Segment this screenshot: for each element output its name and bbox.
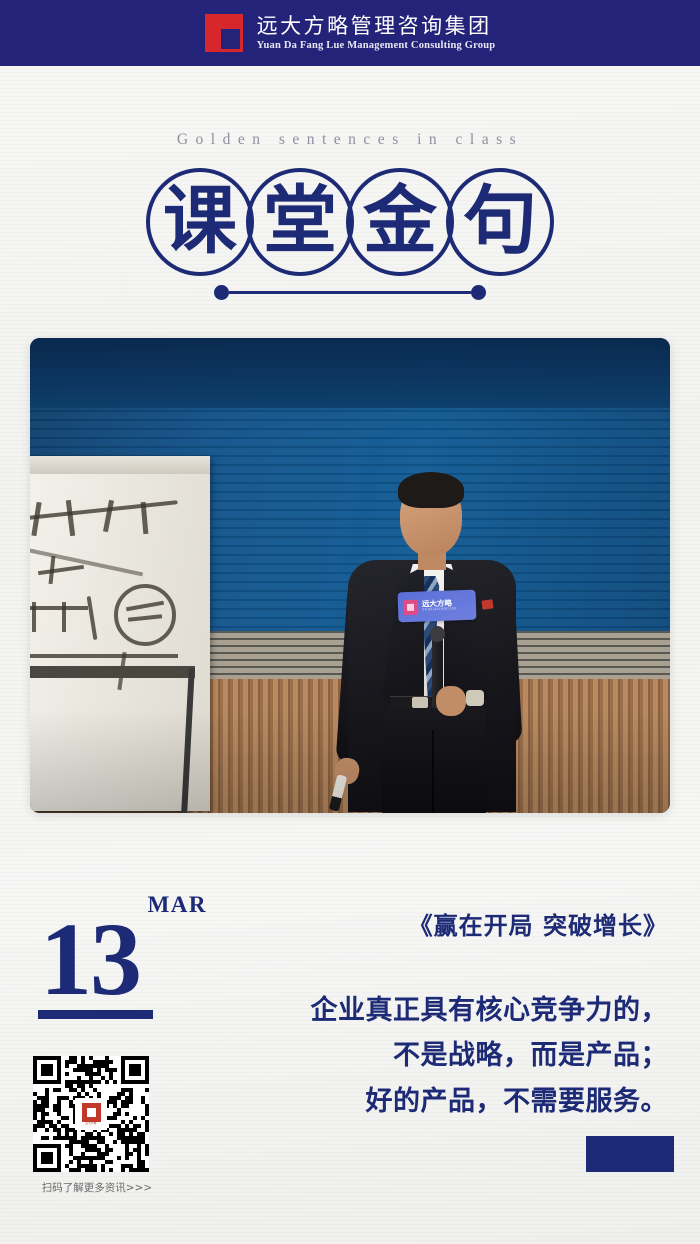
photo-speaker-wristwatch: [466, 690, 484, 706]
qr-code[interactable]: 远大方略: [33, 1056, 149, 1172]
qr-block: 远大方略 扫码了解更多资讯>>>: [33, 1056, 149, 1195]
qr-center-logo-icon: 远大方略: [75, 1098, 107, 1130]
photo-microphone-flag: 远大方略 YUAN DA FANG LUE: [398, 590, 477, 623]
quote-line-3: 好的产品，不需要服务。: [311, 1079, 669, 1124]
photo-speaker-trouser-seam: [432, 730, 434, 813]
photo-microphone-head: [430, 626, 445, 642]
brand-text-group: 远大方略管理咨询集团 Yuan Da Fang Lue Management C…: [257, 15, 496, 52]
speaker-presentation-photo: 远大方略 YUAN DA FANG LUE: [30, 338, 670, 813]
poster-page: 远大方略管理咨询集团 Yuan Da Fang Lue Management C…: [0, 0, 700, 1244]
quote-text: 企业真正具有核心竞争力的， 不是战略，而是产品； 好的产品，不需要服务。: [311, 988, 669, 1124]
date-day: 13: [34, 912, 219, 1008]
hero-eyebrow: Golden sentences in class: [0, 131, 700, 149]
title-glyph-2: 堂: [246, 168, 354, 276]
mic-flag-logo-icon: [403, 599, 419, 615]
title-glyph-3-char: 金: [363, 184, 437, 258]
mic-flag-brand-en: YUAN DA FANG LUE: [422, 608, 457, 613]
photo-flipchart: [30, 456, 210, 811]
photo-curtain-shadow: [30, 338, 670, 408]
brand-name-en: Yuan Da Fang Lue Management Consulting G…: [257, 40, 496, 52]
divider-dot-left: [214, 285, 229, 300]
photo-speaker-lapel-pin: [481, 599, 493, 609]
photo-speaker-trousers: [382, 708, 486, 813]
photo-flipchart-tray: [30, 666, 195, 678]
yuanda-square-logo-icon: [205, 14, 243, 52]
photo-speaker-belt-buckle: [412, 697, 428, 708]
photo-speaker-hair: [398, 472, 464, 508]
title-glyph-4-char: 句: [463, 184, 537, 258]
qr-logo-label: 远大方略: [85, 1123, 96, 1126]
qr-caption: 扫码了解更多资讯>>>: [33, 1180, 161, 1195]
quote-line-1: 企业真正具有核心竞争力的，: [311, 988, 669, 1033]
quote-line-2: 不是战略，而是产品；: [311, 1033, 669, 1078]
brand-name-cn: 远大方略管理咨询集团: [257, 15, 496, 38]
course-title: 《赢在开局 突破增长》: [409, 906, 668, 941]
hero-title: 课 堂 金 句: [0, 168, 700, 276]
date-block: MAR 13: [34, 893, 219, 1019]
divider-dot-right: [471, 285, 486, 300]
photo-speaker-hand-right: [436, 686, 466, 716]
title-divider: [0, 285, 700, 300]
title-glyph-3: 金: [346, 168, 454, 276]
title-glyph-1: 课: [146, 168, 254, 276]
decorative-rectangle: [586, 1136, 674, 1172]
divider-bar: [229, 291, 471, 294]
photo-flipchart-clip: [30, 456, 210, 474]
title-glyph-1-char: 课: [163, 184, 237, 258]
title-glyph-4: 句: [446, 168, 554, 276]
title-glyph-2-char: 堂: [263, 184, 337, 258]
brand-header: 远大方略管理咨询集团 Yuan Da Fang Lue Management C…: [0, 0, 700, 66]
